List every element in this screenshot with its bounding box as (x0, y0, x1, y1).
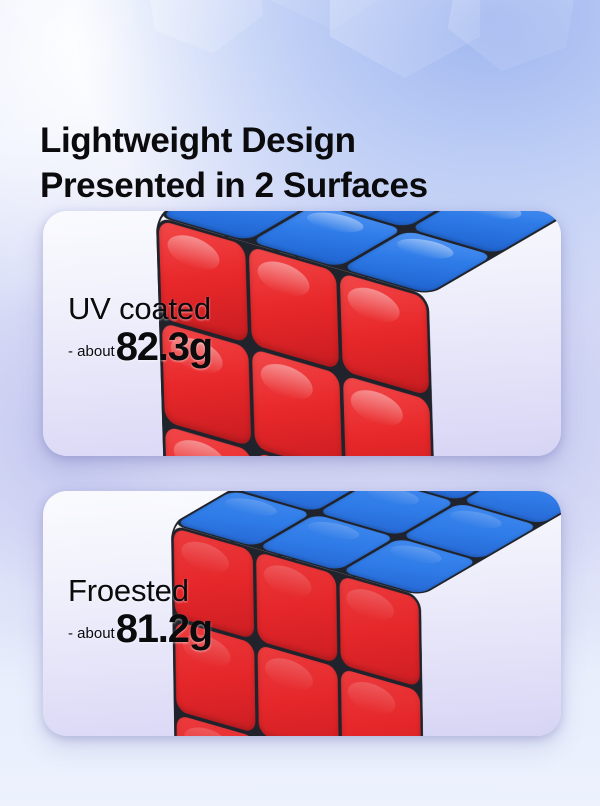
page-headline: Lightweight Design Presented in 2 Surfac… (40, 119, 560, 207)
surface-card-frosted: Froested - about 81.2g (43, 491, 561, 736)
weight-prefix: - about (68, 625, 115, 648)
surface-name: UV coated (68, 293, 212, 324)
weight-prefix: - about (68, 343, 115, 366)
weight-value: 82.3g (116, 328, 212, 366)
weight-value: 81.2g (116, 610, 212, 648)
headline-line-1: Lightweight Design (40, 121, 356, 160)
surface-label-group: UV coated - about 82.3g (68, 293, 212, 366)
rubiks-cube-frosted (239, 498, 561, 736)
surface-label-group: Froested - about 81.2g (68, 575, 212, 648)
surface-card-uv-coated: UV coated - about 82.3g (43, 211, 561, 456)
headline-line-2: Presented in 2 Surfaces (40, 164, 560, 208)
surface-name: Froested (68, 575, 212, 606)
rubiks-cube-uv-coated (250, 211, 561, 456)
